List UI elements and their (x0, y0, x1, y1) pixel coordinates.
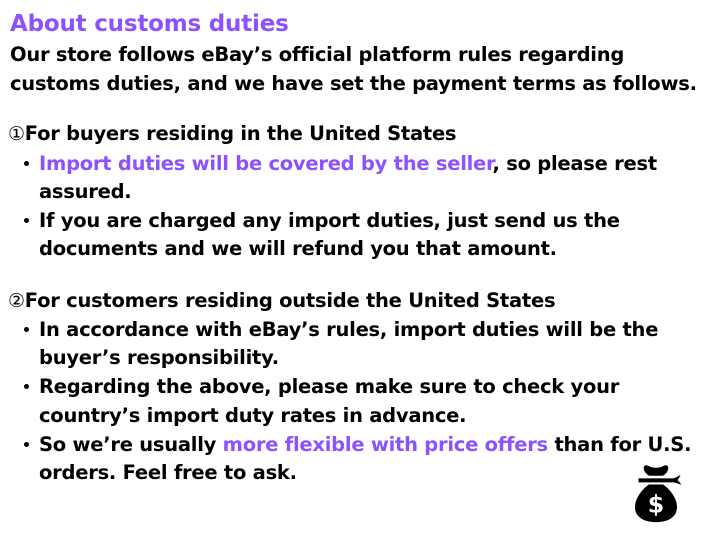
bullet-dot-icon (24, 327, 29, 332)
bullet-dot-icon (24, 161, 29, 166)
list-item: So we’re usually more flexible with pric… (8, 431, 702, 487)
list-item: If you are charged any import duties, ju… (8, 207, 702, 263)
bullet-list-1: Import duties will be covered by the sel… (8, 150, 702, 263)
bullet-dot-icon (24, 442, 29, 447)
bullet-lead-text: If you are charged any import duties, ju… (39, 209, 620, 260)
bullet-dot-icon (24, 218, 29, 223)
section-heading-1-label: For buyers residing in the United States (25, 120, 456, 148)
slide-canvas: About customs duties Our store follows e… (0, 0, 712, 538)
list-item: Regarding the above, please make sure to… (8, 373, 702, 429)
section-heading-2: ② For customers residing outside the Uni… (8, 287, 702, 315)
section-united-states: ① For buyers residing in the United Stat… (8, 120, 702, 263)
bullet-dot-icon (24, 384, 29, 389)
bullet-highlight-text: more flexible with price offers (223, 433, 548, 456)
money-bag-icon: $ (628, 464, 684, 526)
section-outside-united-states: ② For customers residing outside the Uni… (8, 287, 702, 487)
bullet-lead-text: So we’re usually (39, 433, 223, 456)
section-heading-2-label: For customers residing outside the Unite… (25, 287, 556, 315)
svg-text:$: $ (648, 491, 664, 519)
circled-number-1-icon: ① (8, 125, 25, 144)
bullet-lead-text: Regarding the above, please make sure to… (39, 375, 619, 426)
bullet-lead-text: In accordance with eBay’s rules, import … (39, 318, 658, 369)
intro-paragraph: Our store follows eBay’s official platfo… (10, 41, 700, 99)
page-title: About customs duties (10, 10, 702, 39)
bullet-list-2: In accordance with eBay’s rules, import … (8, 316, 702, 486)
circled-number-2-icon: ② (8, 292, 25, 311)
list-item: In accordance with eBay’s rules, import … (8, 316, 702, 372)
bullet-highlight-text: Import duties will be covered by the sel… (39, 152, 493, 175)
list-item: Import duties will be covered by the sel… (8, 150, 702, 206)
section-heading-1: ① For buyers residing in the United Stat… (8, 120, 702, 148)
